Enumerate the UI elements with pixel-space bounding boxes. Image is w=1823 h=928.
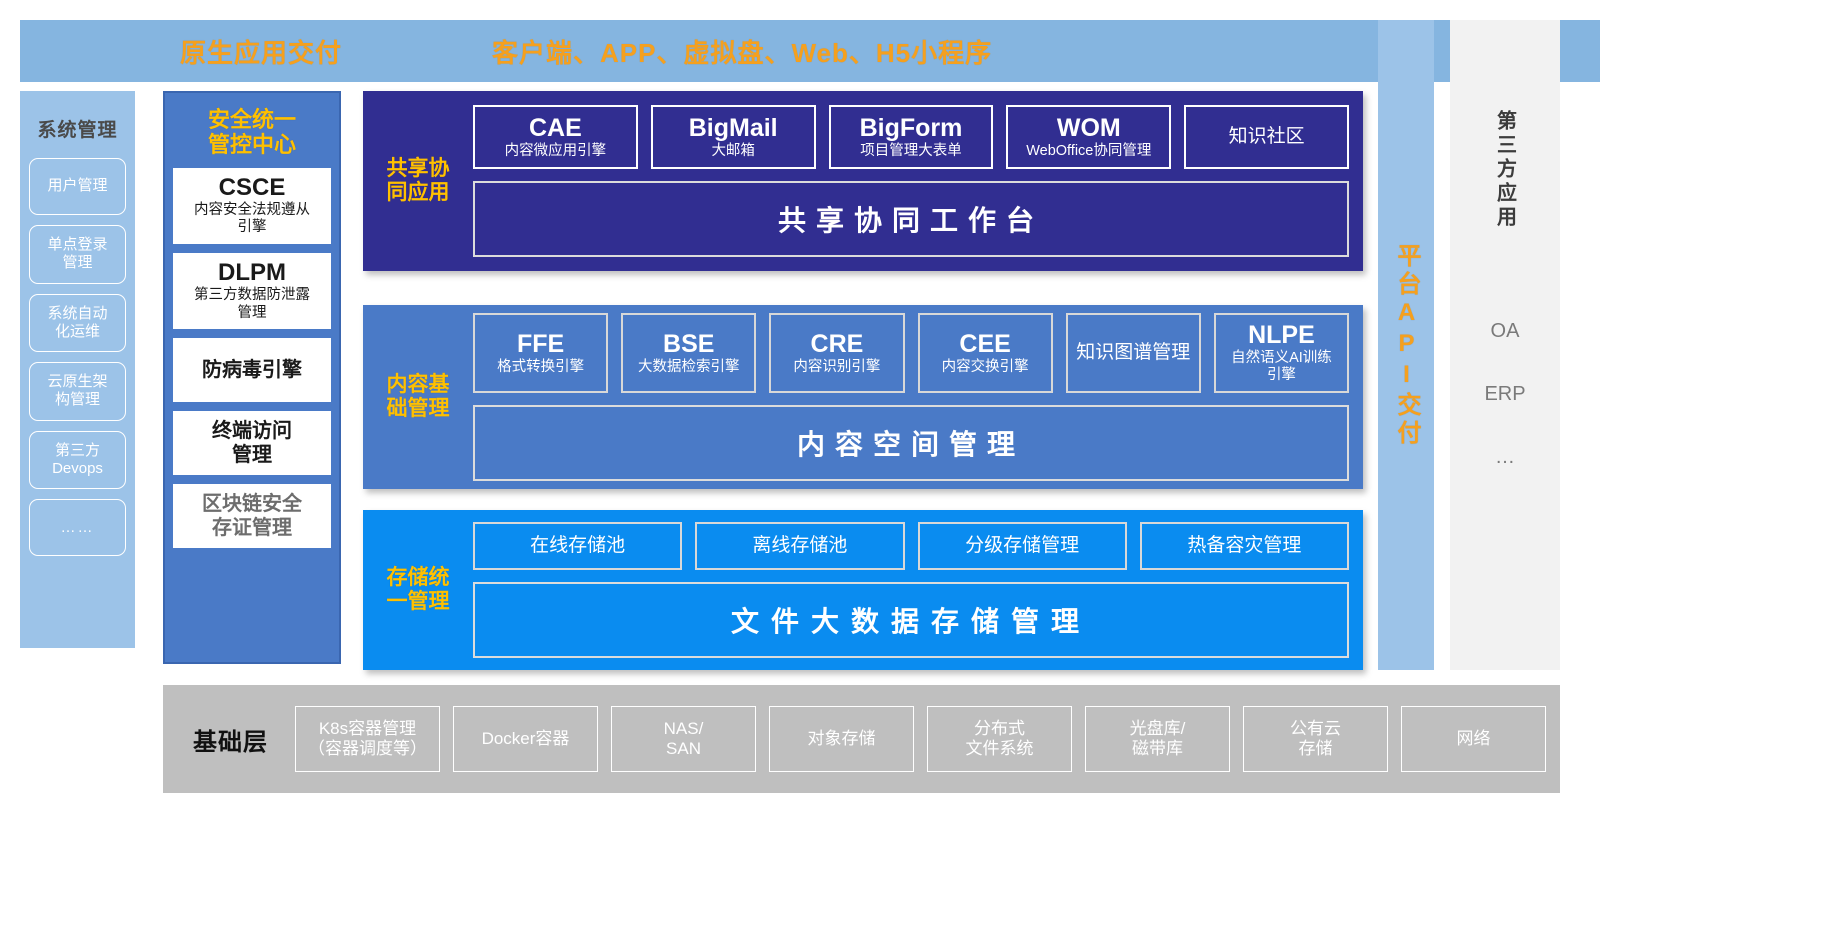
base-chip-public-cloud-storage[interactable]: 公有云存储 <box>1243 706 1388 772</box>
storage-unified-management-panel: 存储统一管理 在线存储池 离线存储池 分级存储管理 热备容灾管理 文件大数据存储… <box>363 510 1363 670</box>
base-chip-docker[interactable]: Docker容器 <box>453 706 598 772</box>
bigform-desc: 项目管理大表单 <box>860 143 962 160</box>
banner-left-label: 原生应用交付 <box>180 33 342 70</box>
content-base-management-panel: 内容基础管理 FFE 格式转换引擎 BSE 大数据检索引擎 CRE 内容识别引擎… <box>363 305 1363 489</box>
base-chip-distributed-fs[interactable]: 分布式文件系统 <box>927 706 1072 772</box>
cae-desc: 内容微应用引擎 <box>505 143 607 160</box>
security-item-dlpm[interactable]: DLPM 第三方数据防泄露管理 <box>173 253 331 329</box>
storage-body: 在线存储池 离线存储池 分级存储管理 热备容灾管理 文件大数据存储管理 <box>473 510 1363 670</box>
shared-collaboration-body: CAE 内容微应用引擎 BigMail 大邮箱 BigForm 项目管理大表单 … <box>473 91 1363 271</box>
online-storage-pool-label: 在线存储池 <box>530 536 625 556</box>
base-chip-optical-tape-library[interactable]: 光盘库/磁带库 <box>1085 706 1230 772</box>
base-chip-network[interactable]: 网络 <box>1401 706 1546 772</box>
security-control-center-column: 安全统一管控中心 CSCE 内容安全法规遵从引擎 DLPM 第三方数据防泄露管理… <box>163 91 341 664</box>
security-item-csce[interactable]: CSCE 内容安全法规遵从引擎 <box>173 168 331 244</box>
dlpm-desc: 第三方数据防泄露管理 <box>177 287 327 322</box>
content-base-body: FFE 格式转换引擎 BSE 大数据检索引擎 CRE 内容识别引擎 CEE 内容… <box>473 305 1363 489</box>
csce-code: CSCE <box>177 175 327 201</box>
bigform-code: BigForm <box>860 115 963 141</box>
system-management-title: 系统管理 <box>29 115 126 142</box>
chip-tiered-storage[interactable]: 分级存储管理 <box>918 522 1127 570</box>
chip-bigmail[interactable]: BigMail 大邮箱 <box>651 105 816 169</box>
offline-storage-pool-label: 离线存储池 <box>752 536 847 556</box>
wom-code: WOM <box>1057 115 1121 141</box>
knowledge-graph-label: 知识图谱管理 <box>1076 343 1190 363</box>
shared-collaboration-label: 共享协同应用 <box>363 91 473 271</box>
knowledge-community-label: 知识社区 <box>1229 127 1305 147</box>
security-center-title: 安全统一管控中心 <box>173 107 331 158</box>
security-item-terminal-access[interactable]: 终端访问管理 <box>173 411 331 475</box>
wom-desc: WebOffice协同管理 <box>1026 143 1151 160</box>
bigmail-desc: 大邮箱 <box>711 143 755 160</box>
cre-desc: 内容识别引擎 <box>793 359 880 376</box>
security-item-antivirus-engine[interactable]: 防病毒引擎 <box>173 338 331 402</box>
platform-api-column: 平台API交付 <box>1378 20 1434 670</box>
ffe-code: FFE <box>517 331 564 357</box>
cee-desc: 内容交换引擎 <box>942 359 1029 376</box>
third-party-item-oa[interactable]: OA <box>1491 320 1520 343</box>
chip-wom[interactable]: WOM WebOffice协同管理 <box>1006 105 1171 169</box>
base-chip-nas-san[interactable]: NAS/SAN <box>611 706 756 772</box>
storage-unified-label: 存储统一管理 <box>363 510 473 670</box>
cre-code: CRE <box>811 331 864 357</box>
chip-nlpe[interactable]: NLPE 自然语义AI训练引擎 <box>1214 313 1349 393</box>
bse-desc: 大数据检索引擎 <box>638 359 740 376</box>
chip-knowledge-community[interactable]: 知识社区 <box>1184 105 1349 169</box>
chip-cae[interactable]: CAE 内容微应用引擎 <box>473 105 638 169</box>
storage-chip-row: 在线存储池 离线存储池 分级存储管理 热备容灾管理 <box>473 522 1349 570</box>
shared-collaboration-panel: 共享协同应用 CAE 内容微应用引擎 BigMail 大邮箱 BigForm 项… <box>363 91 1363 271</box>
chip-ffe[interactable]: FFE 格式转换引擎 <box>473 313 608 393</box>
sys-item-automation-ops[interactable]: 系统自动化运维 <box>29 294 126 353</box>
architecture-diagram: 原生应用交付 客户端、APP、虚拟盘、Web、H5小程序 系统管理 用户管理 单… <box>0 0 1823 928</box>
chip-cee[interactable]: CEE 内容交换引擎 <box>918 313 1053 393</box>
tiered-storage-label: 分级存储管理 <box>965 536 1079 556</box>
base-chip-object-storage[interactable]: 对象存储 <box>769 706 914 772</box>
chip-knowledge-graph[interactable]: 知识图谱管理 <box>1066 313 1201 393</box>
cae-code: CAE <box>529 115 582 141</box>
hot-backup-dr-label: 热备容灾管理 <box>1187 536 1301 556</box>
chip-hot-backup-dr[interactable]: 热备容灾管理 <box>1140 522 1349 570</box>
sys-item-third-party-devops[interactable]: 第三方Devops <box>29 431 126 490</box>
content-space-management-bar[interactable]: 内容空间管理 <box>473 405 1349 481</box>
chip-cre[interactable]: CRE 内容识别引擎 <box>769 313 904 393</box>
sys-item-user-management[interactable]: 用户管理 <box>29 158 126 215</box>
content-base-label: 内容基础管理 <box>363 305 473 489</box>
base-chip-k8s[interactable]: K8s容器管理（容器调度等） <box>295 706 440 772</box>
csce-desc: 内容安全法规遵从引擎 <box>177 202 327 237</box>
platform-api-label: 平台API交付 <box>1391 243 1421 448</box>
chip-bigform[interactable]: BigForm 项目管理大表单 <box>829 105 994 169</box>
sys-item-more[interactable]: …… <box>29 499 126 556</box>
third-party-application-column: 第三方应用 OA ERP … <box>1450 20 1560 670</box>
chip-online-storage-pool[interactable]: 在线存储池 <box>473 522 682 570</box>
third-party-item-more[interactable]: … <box>1495 446 1515 469</box>
third-party-title: 第三方应用 <box>1491 110 1520 230</box>
native-app-delivery-banner: 原生应用交付 客户端、APP、虚拟盘、Web、H5小程序 <box>20 20 1600 82</box>
cee-code: CEE <box>959 331 1010 357</box>
shared-collaboration-chip-row: CAE 内容微应用引擎 BigMail 大邮箱 BigForm 项目管理大表单 … <box>473 105 1349 169</box>
security-item-blockchain-evidence[interactable]: 区块链安全存证管理 <box>173 484 331 548</box>
third-party-item-erp[interactable]: ERP <box>1484 383 1525 406</box>
base-layer-title: 基础层 <box>193 722 268 757</box>
ffe-desc: 格式转换引擎 <box>497 359 584 376</box>
sys-item-cloud-native-arch[interactable]: 云原生架构管理 <box>29 362 126 421</box>
chip-bse[interactable]: BSE 大数据检索引擎 <box>621 313 756 393</box>
system-management-column: 系统管理 用户管理 单点登录管理 系统自动化运维 云原生架构管理 第三方Devo… <box>20 91 135 648</box>
content-base-chip-row: FFE 格式转换引擎 BSE 大数据检索引擎 CRE 内容识别引擎 CEE 内容… <box>473 313 1349 393</box>
chip-offline-storage-pool[interactable]: 离线存储池 <box>695 522 904 570</box>
base-infrastructure-layer: 基础层 K8s容器管理（容器调度等） Docker容器 NAS/SAN 对象存储… <box>163 685 1560 793</box>
sys-item-sso-management[interactable]: 单点登录管理 <box>29 225 126 284</box>
nlpe-code: NLPE <box>1248 322 1315 348</box>
bse-code: BSE <box>663 331 714 357</box>
shared-collaboration-workbench-bar[interactable]: 共享协同工作台 <box>473 181 1349 257</box>
nlpe-desc: 自然语义AI训练引擎 <box>1231 350 1332 383</box>
dlpm-code: DLPM <box>177 260 327 286</box>
file-bigdata-storage-bar[interactable]: 文件大数据存储管理 <box>473 582 1349 658</box>
bigmail-code: BigMail <box>689 115 778 141</box>
banner-right-label: 客户端、APP、虚拟盘、Web、H5小程序 <box>492 33 992 70</box>
